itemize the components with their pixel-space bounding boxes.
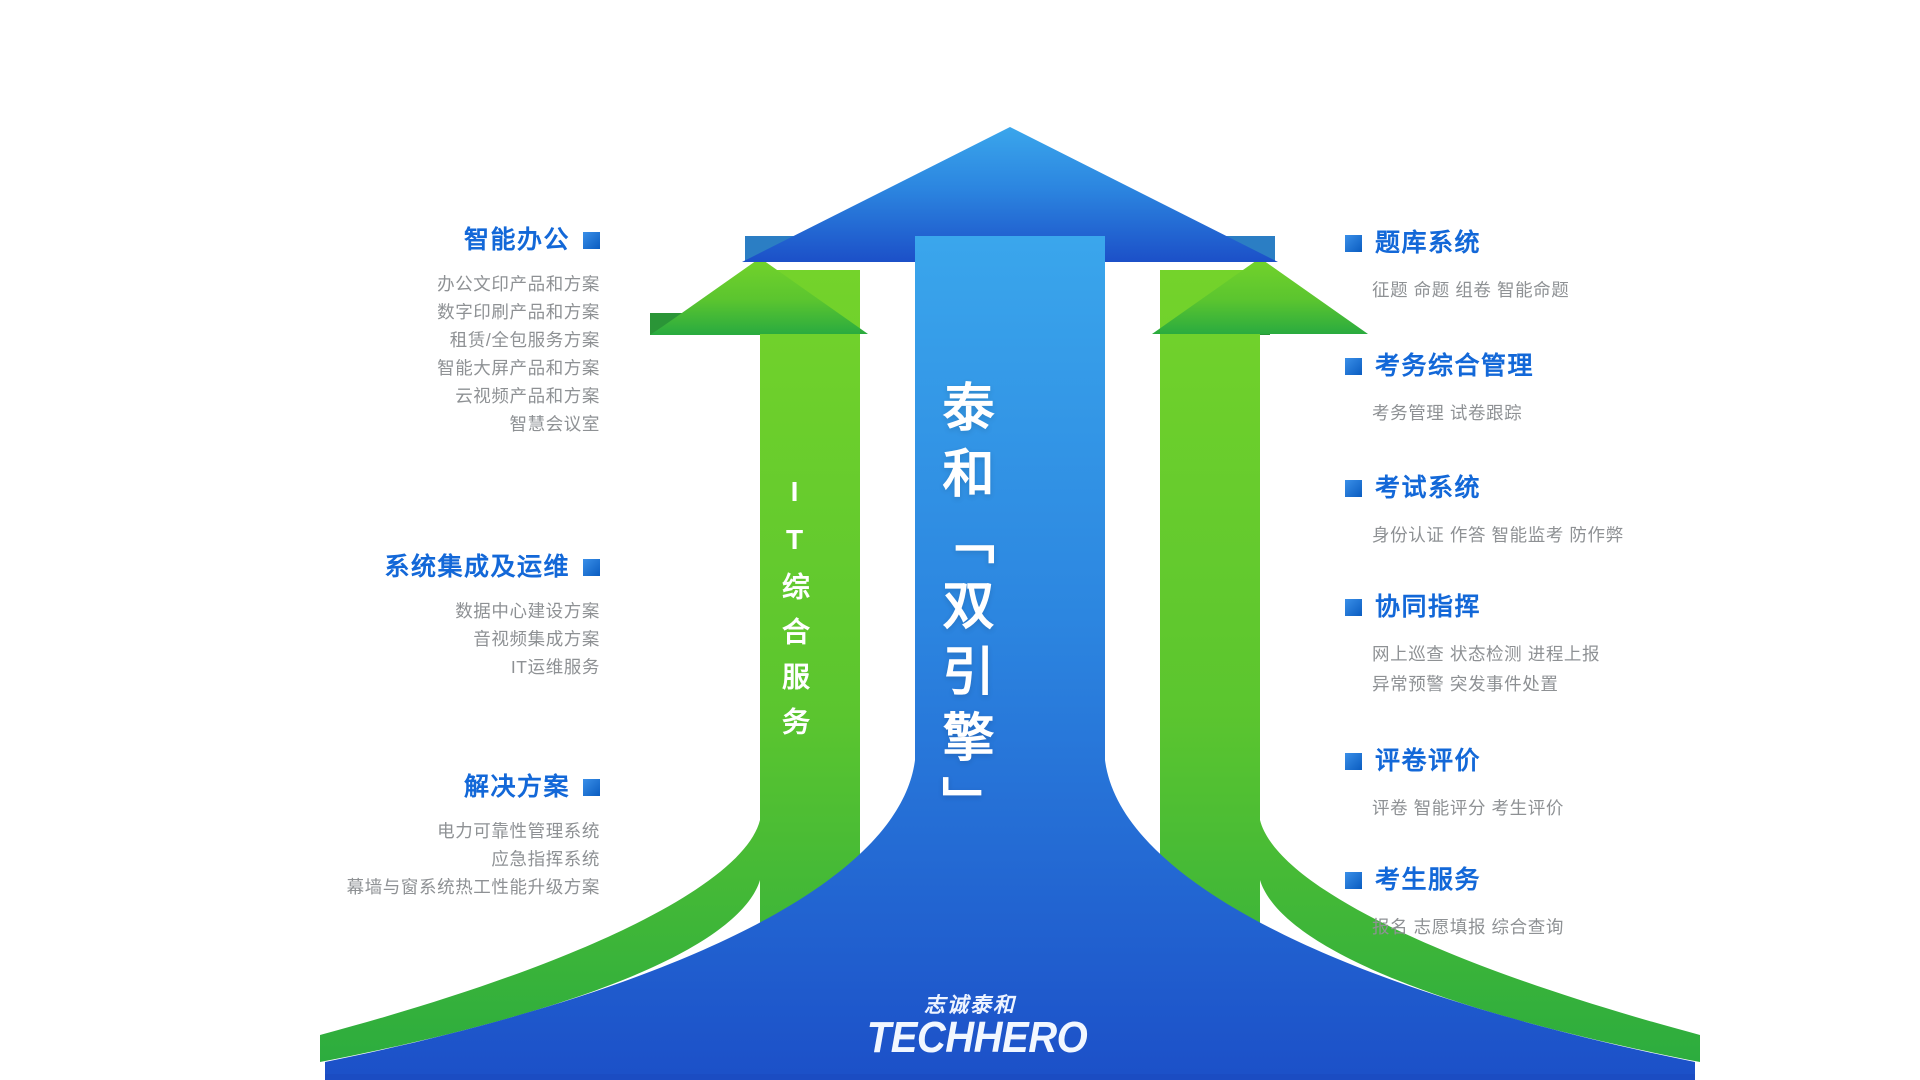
- company-logo: 志诚泰和 TECHHERO: [862, 995, 1092, 1058]
- list-item: 音视频集成方案: [180, 625, 600, 653]
- list-item: 报名 志愿填报 综合查询: [1345, 912, 1785, 942]
- square-bullet-icon: [1345, 358, 1362, 375]
- group-item-list: 考务管理 试卷跟踪: [1345, 398, 1785, 428]
- square-bullet-icon: [583, 779, 600, 796]
- list-item: 租赁/全包服务方案: [180, 326, 600, 354]
- list-item: 考务管理 试卷跟踪: [1345, 398, 1785, 428]
- group-header: 题库系统: [1345, 231, 1785, 256]
- square-bullet-icon: [1345, 872, 1362, 889]
- group-header: 评卷评价: [1345, 749, 1785, 774]
- list-item: 幕墙与窗系统热工性能升级方案: [180, 873, 600, 901]
- logo-chinese-name: 志诚泰和: [924, 995, 1092, 1016]
- left-group-system-integration: 系统集成及运维 数据中心建设方案 音视频集成方案 IT运维服务: [180, 555, 600, 681]
- list-item: 征题 命题 组卷 智能命题: [1345, 275, 1785, 305]
- group-title: 考试系统: [1375, 476, 1481, 501]
- list-item: 数字印刷产品和方案: [180, 298, 600, 326]
- list-item: 智慧会议室: [180, 410, 600, 438]
- group-title: 考务综合管理: [1375, 354, 1534, 379]
- list-item: 数据中心建设方案: [180, 597, 600, 625]
- group-title: 评卷评价: [1375, 749, 1481, 774]
- group-title: 系统集成及运维: [384, 555, 570, 580]
- list-item: 办公文印产品和方案: [180, 270, 600, 298]
- square-bullet-icon: [583, 232, 600, 249]
- logo-english-name: TECHHERO: [862, 1016, 1092, 1059]
- left-arrow-label: IT综合服务: [756, 476, 814, 752]
- group-header: 系统集成及运维: [180, 555, 600, 580]
- group-item-list: 征题 命题 组卷 智能命题: [1345, 275, 1785, 305]
- square-bullet-icon: [1345, 235, 1362, 252]
- list-item: 异常预警 突发事件处置: [1345, 669, 1785, 699]
- group-item-list: 报名 志愿填报 综合查询: [1345, 912, 1785, 942]
- list-item: 网上巡查 状态检测 进程上报: [1345, 639, 1785, 669]
- list-item: IT运维服务: [180, 653, 600, 681]
- group-item-list: 电力可靠性管理系统 应急指挥系统 幕墙与窗系统热工性能升级方案: [180, 817, 600, 901]
- square-bullet-icon: [1345, 599, 1362, 616]
- group-header: 考试系统: [1345, 476, 1785, 501]
- square-bullet-icon: [1345, 480, 1362, 497]
- list-item: 身份认证 作答 智能监考 防作弊: [1345, 520, 1785, 550]
- group-item-list: 网上巡查 状态检测 进程上报 异常预警 突发事件处置: [1345, 639, 1785, 699]
- left-group-solutions: 解决方案 电力可靠性管理系统 应急指挥系统 幕墙与窗系统热工性能升级方案: [180, 775, 600, 901]
- list-item: 应急指挥系统: [180, 845, 600, 873]
- group-title: 题库系统: [1375, 231, 1481, 256]
- group-header: 协同指挥: [1345, 595, 1785, 620]
- group-title: 智能办公: [464, 228, 570, 253]
- right-group-exam-system: 考试系统 身份认证 作答 智能监考 防作弊: [1345, 476, 1785, 550]
- group-title: 解决方案: [464, 775, 570, 800]
- right-group-question-bank: 题库系统 征题 命题 组卷 智能命题: [1345, 231, 1785, 305]
- right-group-exam-admin: 考务综合管理 考务管理 试卷跟踪: [1345, 354, 1785, 428]
- group-header: 解决方案: [180, 775, 600, 800]
- right-group-marking-evaluation: 评卷评价 评卷 智能评分 考生评价: [1345, 749, 1785, 823]
- group-header: 考务综合管理: [1345, 354, 1785, 379]
- left-group-smart-office: 智能办公 办公文印产品和方案 数字印刷产品和方案 租赁/全包服务方案 智能大屏产…: [180, 228, 600, 438]
- square-bullet-icon: [583, 559, 600, 576]
- square-bullet-icon: [1345, 753, 1362, 770]
- group-header: 考生服务: [1345, 868, 1785, 893]
- group-title: 考生服务: [1375, 868, 1481, 893]
- group-title: 协同指挥: [1375, 595, 1481, 620]
- group-item-list: 评卷 智能评分 考生评价: [1345, 793, 1785, 823]
- group-item-list: 身份认证 作答 智能监考 防作弊: [1345, 520, 1785, 550]
- center-arrow-label: 泰和「双引擎」: [915, 380, 1001, 842]
- list-item: 智能大屏产品和方案: [180, 354, 600, 382]
- right-arrow-label: 教育考试信息化: [1090, 460, 1148, 754]
- right-group-candidate-service: 考生服务 报名 志愿填报 综合查询: [1345, 868, 1785, 942]
- group-item-list: 数据中心建设方案 音视频集成方案 IT运维服务: [180, 597, 600, 681]
- group-header: 智能办公: [180, 228, 600, 253]
- right-group-coordinated-command: 协同指挥 网上巡查 状态检测 进程上报 异常预警 突发事件处置: [1345, 595, 1785, 699]
- list-item: 评卷 智能评分 考生评价: [1345, 793, 1785, 823]
- base-line: [325, 1074, 1695, 1080]
- infographic-canvas: IT综合服务 泰和「双引擎」 教育考试信息化 智能办公 办公文印产品和方案 数字…: [0, 0, 1920, 1080]
- list-item: 电力可靠性管理系统: [180, 817, 600, 845]
- list-item: 云视频产品和方案: [180, 382, 600, 410]
- group-item-list: 办公文印产品和方案 数字印刷产品和方案 租赁/全包服务方案 智能大屏产品和方案 …: [180, 270, 600, 438]
